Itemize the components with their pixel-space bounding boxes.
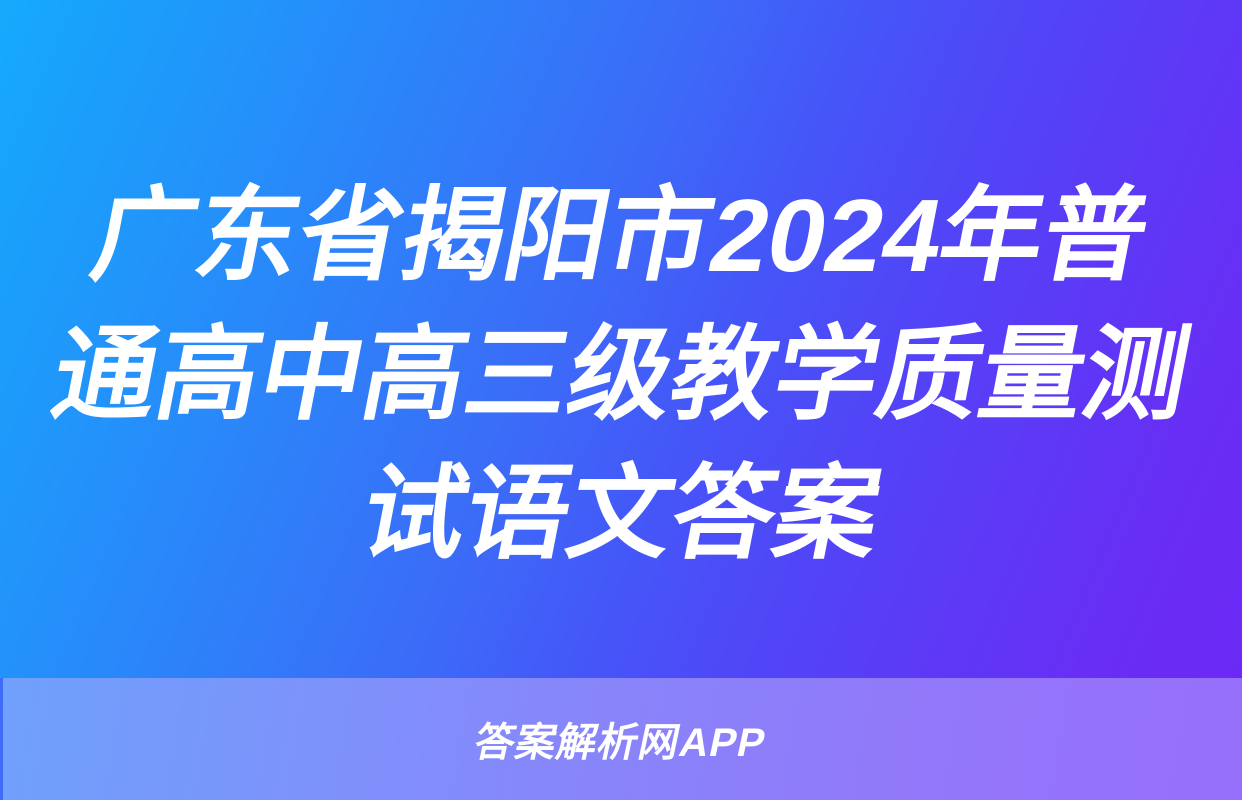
- title-line-3: 试语文答案: [350, 444, 892, 583]
- title-line-1: 广东省揭阳市2024年普: [81, 166, 1161, 305]
- poster-title-block: 广东省揭阳市2024年普 通高中高三级教学质量测 试语文答案: [0, 0, 1242, 678]
- title-line-2: 通高中高三级教学质量测: [41, 305, 1201, 444]
- watermark-container: 答案解析网APP: [0, 678, 1242, 800]
- poster-canvas: 广东省揭阳市2024年普 通高中高三级教学质量测 试语文答案 答案解析网APP: [0, 0, 1242, 800]
- watermark-brand-label: 答案解析网APP: [470, 710, 773, 768]
